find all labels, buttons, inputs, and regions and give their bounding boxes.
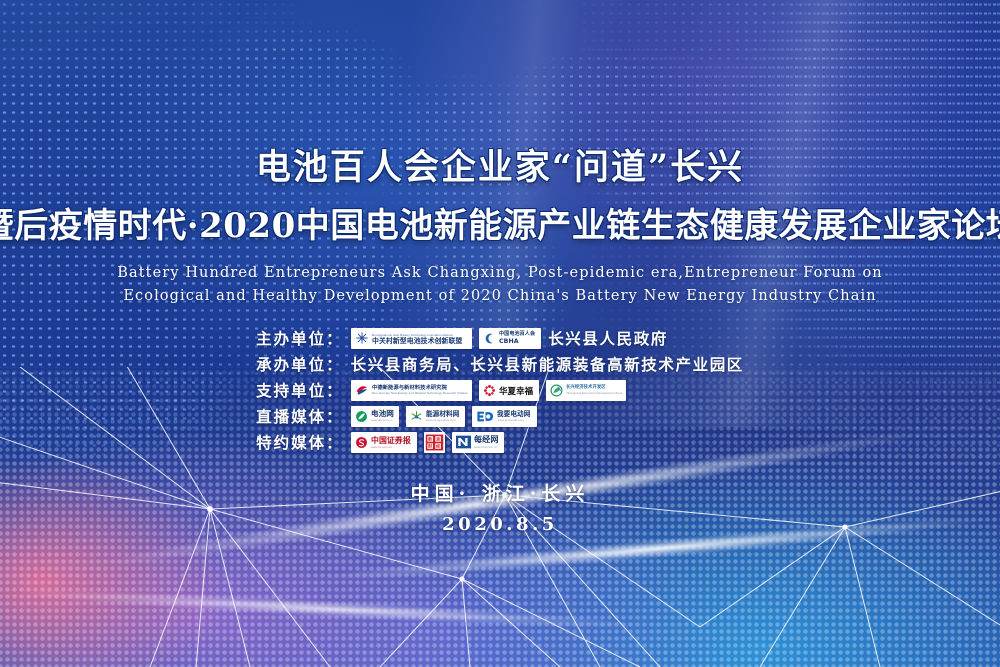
logo-china-fortune-land: 华夏幸福 — [479, 380, 539, 401]
row-host: 主办单位： Zhongguancun New Battery Technolog… — [256, 327, 744, 350]
row-live-media: 直播媒体： 电池网 www.itdcw.com — [256, 405, 744, 428]
logo-wordmark: 电池网 www.itdcw.com — [371, 410, 395, 422]
row-live-media-label: 直播媒体： — [256, 405, 344, 427]
row-featured-media: 特约媒体： 中国证券报 www.cs.com.cn — [256, 431, 744, 454]
ed-monogram-icon — [476, 410, 494, 423]
page-subtitle-cn: 暨后疫情时代·2020中国电池新能源产业链生态健康发展企业家论坛 — [0, 198, 1000, 247]
red-square-logo-icon: 新浪 财经 — [425, 433, 444, 452]
logo-sub: www.itdcw.com — [371, 419, 395, 422]
row-supporter-label: 支持单位： — [256, 379, 344, 401]
subtitle-english: Battery Hundred Entrepreneurs Ask Changx… — [117, 262, 883, 309]
event-date: 2020.8.5 — [442, 514, 558, 535]
logo-name: 每经网 — [474, 436, 499, 444]
logo-wordmark: 中国电池百人会 CBHA — [499, 332, 537, 345]
logo-wordmark: 能源材料网 www.nengyuancl.com — [426, 411, 462, 422]
row-host-text: 长兴县人民政府 — [548, 327, 668, 349]
svg-text:浪: 浪 — [436, 436, 440, 441]
logo-name: 我要电动网 — [497, 411, 530, 418]
row-organizer-label: 承办单位： — [256, 353, 344, 375]
logo-cbha: 中国电池百人会 CBHA — [479, 328, 541, 349]
row-organizer: 承办单位： 长兴县商务局、长兴县新能源装备高新技术产业园区 — [256, 353, 744, 376]
snowflake-icon — [355, 331, 369, 345]
logo-zhongguancun-battery-alliance: Zhongguancun New Battery Technology Inno… — [351, 328, 472, 349]
crescent-icon — [483, 332, 496, 345]
logo-battery-net: 电池网 www.itdcw.com — [351, 406, 399, 427]
logo-name: 华夏幸福 — [499, 384, 533, 396]
logo-sub: Changxing Economic Development Zone — [566, 392, 622, 395]
logo-name: 中国证券报 — [371, 436, 411, 444]
logo-changxing-development-zone: 长兴经济技术开发区 Changxing Economic Development… — [546, 380, 626, 401]
logo-name: 中关村新型电池技术创新联盟 — [372, 337, 462, 344]
partner-rows: 主办单位： Zhongguancun New Battery Technolog… — [256, 327, 744, 454]
poster-content: 电池百人会企业家“问道”长兴 暨后疫情时代·2020中国电池新能源产业链生态健康… — [0, 0, 1000, 667]
logo-sino-german-research-institute: 中德新能源与新材料技术研究院 Sino-German New Energy an… — [351, 380, 472, 401]
event-location: 中国· 浙江·长兴 — [411, 479, 590, 506]
logo-woyaodd: 我要电动网 www.woyaodd.com — [472, 406, 537, 427]
flower-icon — [483, 384, 496, 397]
svg-text:经: 经 — [436, 444, 440, 449]
row-featured-media-label: 特约媒体： — [256, 431, 344, 453]
subtitle-english-line-2: Ecological and Healthy Development of 20… — [117, 285, 883, 308]
logo-name: 长兴经济技术开发区 — [566, 386, 619, 390]
logo-wordmark: 中德新能源与新材料技术研究院 Sino-German New Energy an… — [372, 386, 468, 396]
leaf-circle-icon — [550, 384, 563, 397]
green-leaf-icon — [355, 410, 368, 423]
svg-text:财: 财 — [427, 444, 432, 449]
logo-wordmark: 我要电动网 www.woyaodd.com — [497, 411, 533, 422]
logo-wordmark: 长兴经济技术开发区 Changxing Economic Development… — [566, 386, 622, 395]
logo-name: 中德新能源与新材料技术研究院 — [372, 386, 462, 391]
logo-sub: www.nbd.com.cn — [474, 446, 500, 449]
logo-sub: www.nengyuancl.com — [426, 419, 462, 422]
ribbon-icon — [355, 383, 369, 397]
logo-name: 电池网 — [371, 411, 394, 419]
svg-text:新: 新 — [428, 436, 432, 441]
event-poster: 电池百人会企业家“问道”长兴 暨后疫情时代·2020中国电池新能源产业链生态健康… — [0, 0, 1000, 667]
s-circle-icon — [355, 436, 368, 449]
logo-wordmark: Zhongguancun New Battery Technology Inno… — [372, 333, 468, 344]
logo-china-securities-journal: 中国证券报 www.cs.com.cn — [351, 432, 417, 453]
logo-sina-finance: 新浪 财经 — [424, 432, 445, 453]
row-organizer-text: 长兴县商务局、长兴县新能源装备高新技术产业园区 — [351, 353, 744, 375]
subtitle-english-line-1: Battery Hundred Entrepreneurs Ask Changx… — [117, 262, 883, 285]
logo-wordmark: 每经网 www.nbd.com.cn — [474, 436, 500, 449]
n-monogram-icon — [456, 435, 471, 449]
logo-nbd-net: 每经网 www.nbd.com.cn — [452, 432, 504, 453]
logo-wordmark: 中国证券报 www.cs.com.cn — [371, 436, 413, 449]
burst-icon — [410, 410, 423, 423]
logo-sub: www.cs.com.cn — [371, 446, 413, 449]
row-host-label: 主办单位： — [256, 327, 344, 349]
page-title: 电池百人会企业家“问道”长兴 — [256, 139, 744, 190]
logo-energy-material-net: 能源材料网 www.nengyuancl.com — [406, 406, 466, 427]
logo-sub: www.woyaodd.com — [497, 419, 533, 422]
row-supporter: 支持单位： 中德新能源与新材料技术研究院 Sino-German New Ene… — [256, 379, 744, 402]
logo-name: 能源材料网 — [426, 411, 459, 418]
logo-sub: Sino-German New Energy and Material Tech… — [372, 392, 468, 395]
logo-sub: CBHA — [499, 339, 535, 345]
